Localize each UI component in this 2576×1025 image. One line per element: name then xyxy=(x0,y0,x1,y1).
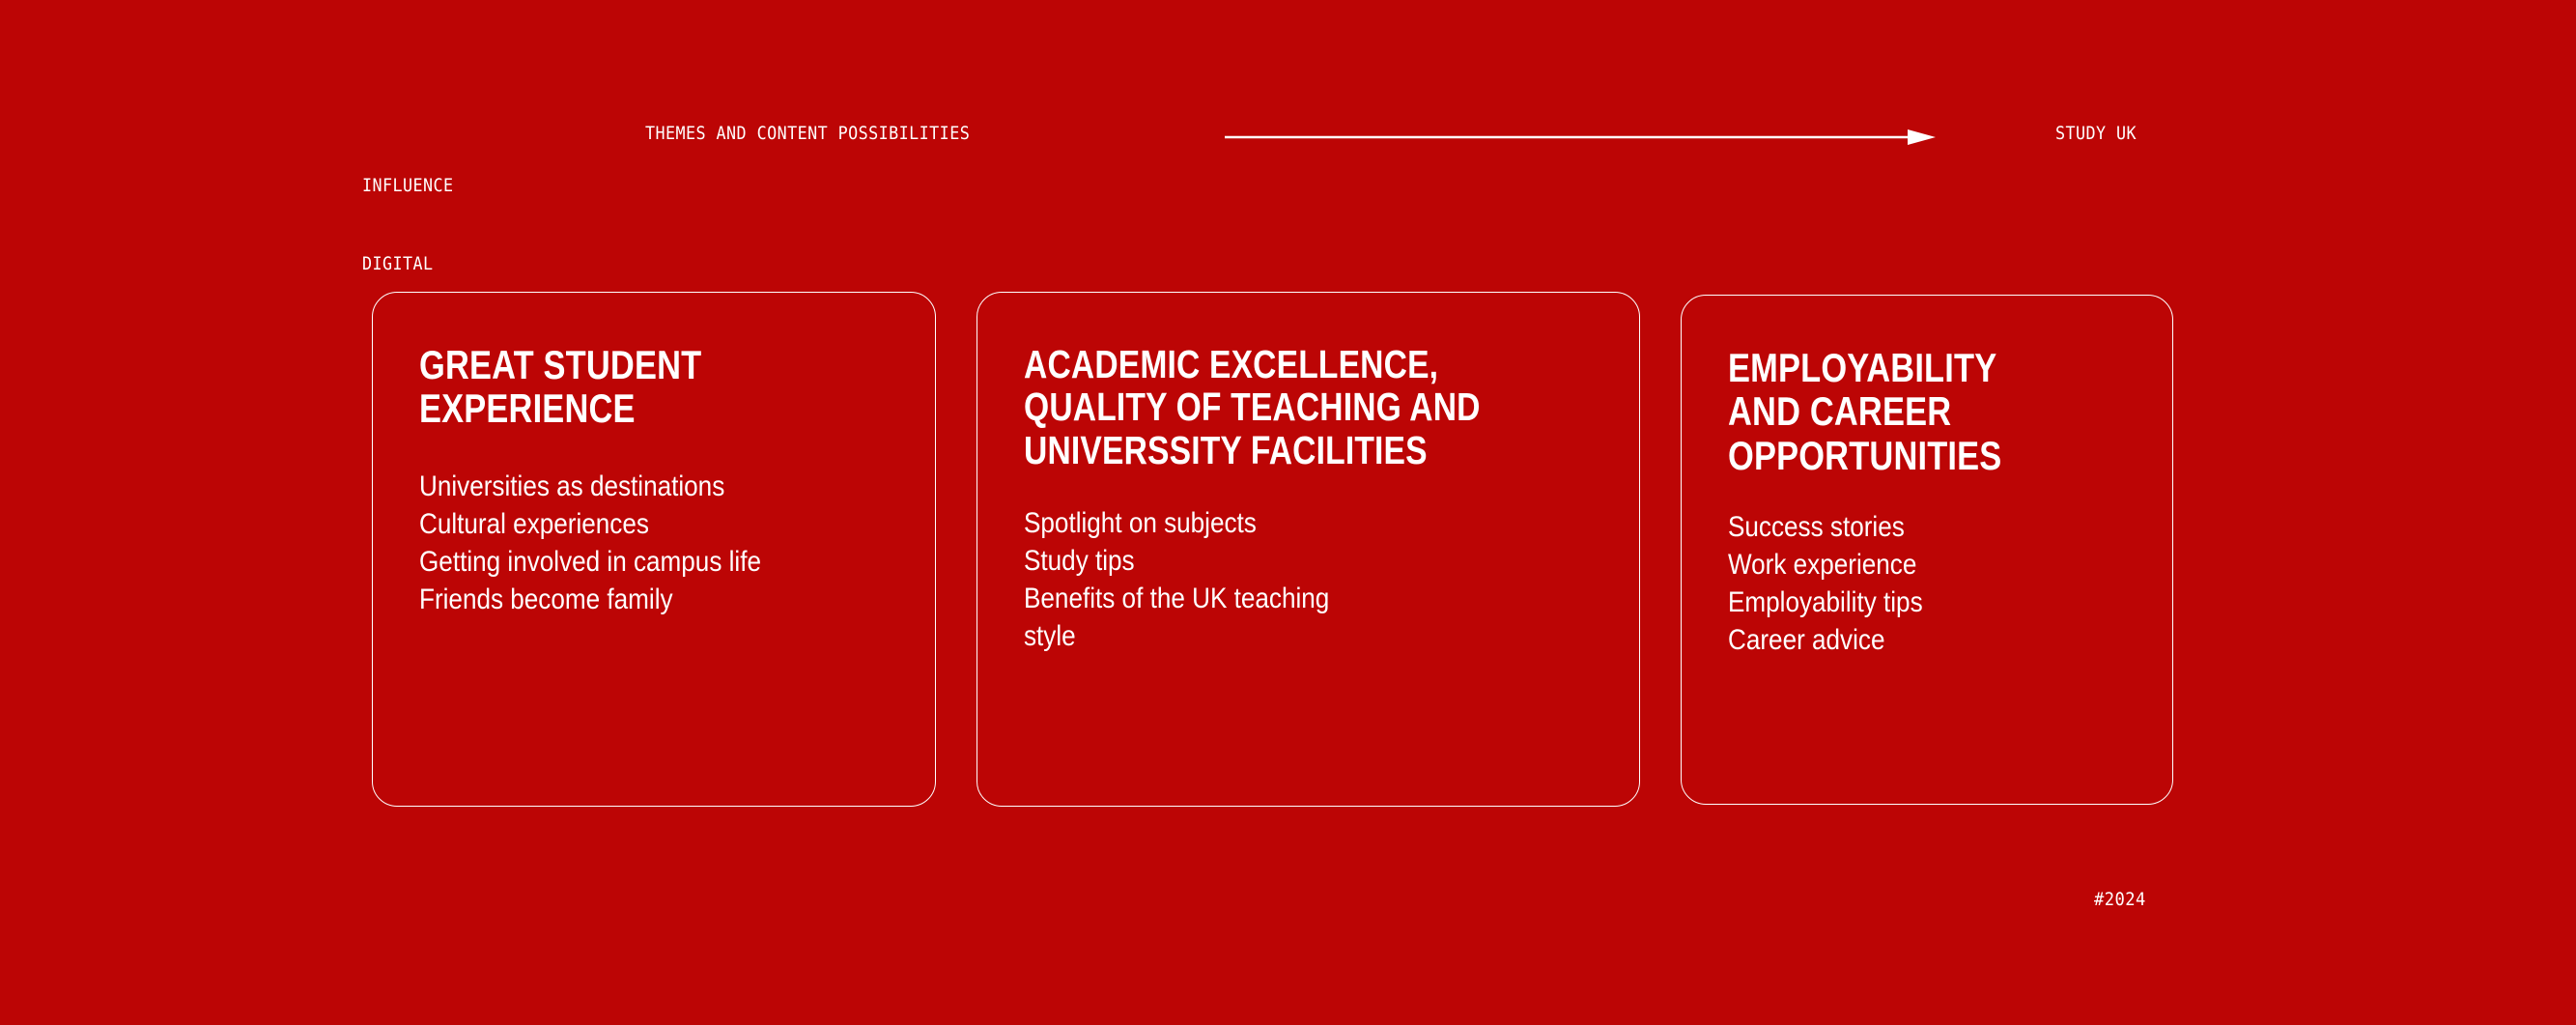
list-item: Spotlight on subjects xyxy=(1024,504,1593,542)
card-item-list: Spotlight on subjects Study tips Benefit… xyxy=(1024,504,1593,655)
brand-line-2: DIGITAL xyxy=(362,251,454,277)
list-item: Success stories xyxy=(1728,508,2126,546)
list-item: Cultural experiences xyxy=(419,505,889,543)
theme-card: GREAT STUDENT EXPERIENCE Universities as… xyxy=(372,292,936,807)
list-item: Study tips xyxy=(1024,542,1593,580)
card-title: EMPLOYABILITY AND CAREER OPPORTUNITIES xyxy=(1728,346,2126,477)
list-item: Career advice xyxy=(1728,621,2126,659)
header-right-label: STUDY UK xyxy=(2055,121,2137,147)
brand-line-1: INFLUENCE xyxy=(362,173,454,199)
list-item: Benefits of the UK teaching style xyxy=(1024,580,1593,655)
theme-card: ACADEMIC EXCELLENCE, QUALITY OF TEACHING… xyxy=(977,292,1640,807)
list-item: Friends become family xyxy=(419,581,889,618)
slide-header: INFLUENCE DIGITAL THEMES AND CONTENT POS… xyxy=(0,121,2576,179)
page-title: THEMES AND CONTENT POSSIBILITIES xyxy=(645,121,970,147)
card-item-list: Success stories Work experience Employab… xyxy=(1728,508,2126,659)
card-title: GREAT STUDENT EXPERIENCE xyxy=(419,343,889,431)
slide-canvas: INFLUENCE DIGITAL THEMES AND CONTENT POS… xyxy=(0,0,2576,1025)
right-arrow-icon xyxy=(1225,128,1939,146)
footer-tag: #2024 xyxy=(2094,889,2146,910)
card-item-list: Universities as destinations Cultural ex… xyxy=(419,468,889,618)
list-item: Universities as destinations xyxy=(419,468,889,505)
theme-card: EMPLOYABILITY AND CAREER OPPORTUNITIES S… xyxy=(1681,295,2173,805)
card-title: ACADEMIC EXCELLENCE, QUALITY OF TEACHING… xyxy=(1024,343,1593,471)
list-item: Employability tips xyxy=(1728,584,2126,621)
list-item: Getting involved in campus life xyxy=(419,543,889,581)
list-item: Work experience xyxy=(1728,546,2126,584)
